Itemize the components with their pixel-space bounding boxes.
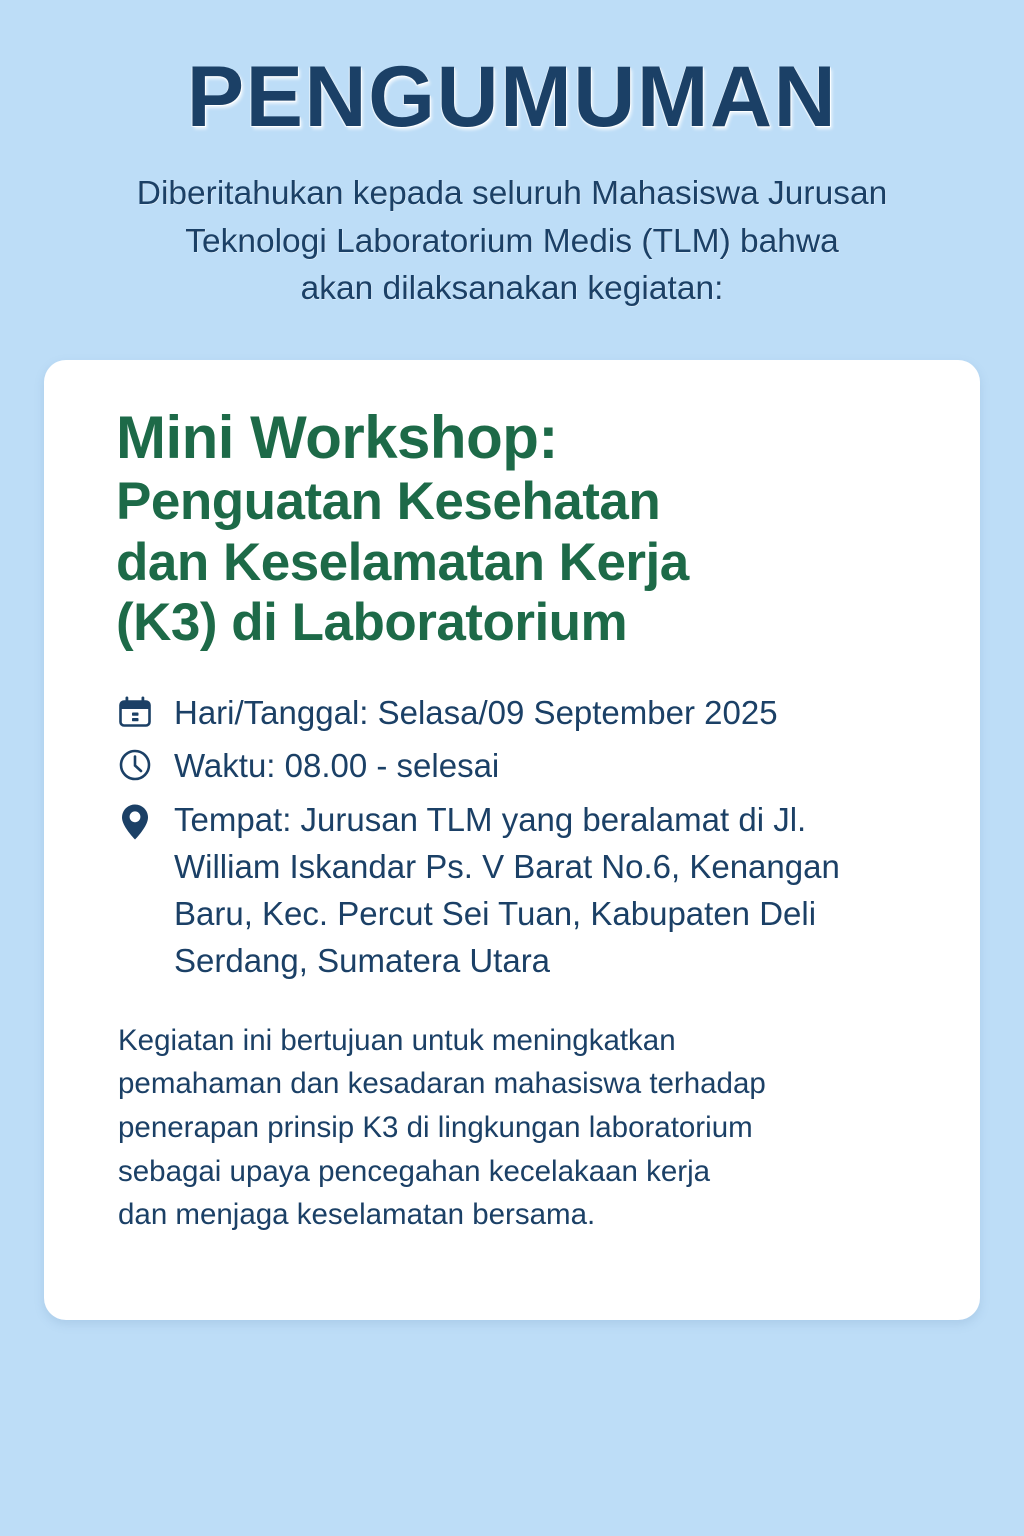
purpose-line: penerapan prinsip K3 di lingkungan labor… — [118, 1106, 908, 1150]
detail-row-place: Tempat: Jurusan TLM yang beralamat di Jl… — [116, 797, 928, 984]
details-card: Mini Workshop: Penguatan Kesehatan dan K… — [44, 360, 980, 1320]
purpose-line: pemahaman dan kesadaran mahasiswa terhad… — [118, 1062, 908, 1106]
purpose-line: dan menjaga keselamatan bersama. — [118, 1193, 908, 1237]
purpose-line: sebagai upaya pencegahan kecelakaan kerj… — [118, 1150, 908, 1194]
detail-row-time: Waktu: 08.00 - selesai — [116, 743, 928, 790]
workshop-heading: Mini Workshop: Penguatan Kesehatan dan K… — [116, 404, 928, 654]
purpose-line: Kegiatan ini bertujuan untuk meningkatka… — [118, 1019, 908, 1063]
calendar-icon — [116, 691, 154, 733]
poster-header: PENGUMUMAN Diberitahukan kepada seluruh … — [0, 0, 1024, 313]
detail-row-date: Hari/Tanggal: Selasa/09 September 2025 — [116, 690, 928, 737]
workshop-heading-line-1: Mini Workshop: — [116, 404, 928, 472]
clock-icon — [116, 744, 154, 786]
detail-text-place: Tempat: Jurusan TLM yang beralamat di Jl… — [174, 797, 894, 984]
map-pin-icon — [116, 801, 154, 843]
workshop-heading-line-3: dan Keselamatan Kerja — [116, 533, 928, 593]
subtitle-line: Teknologi Laboratorium Medis (TLM) bahwa — [82, 218, 942, 266]
detail-text-time: Waktu: 08.00 - selesai — [174, 743, 499, 790]
announcement-poster: PENGUMUMAN Diberitahukan kepada seluruh … — [0, 0, 1024, 1536]
workshop-heading-line-4: (K3) di Laboratorium — [116, 593, 928, 653]
purpose-paragraph: Kegiatan ini bertujuan untuk meningkatka… — [118, 1019, 908, 1237]
detail-text-date: Hari/Tanggal: Selasa/09 September 2025 — [174, 690, 778, 737]
workshop-heading-line-2: Penguatan Kesehatan — [116, 472, 928, 532]
event-details-list: Hari/Tanggal: Selasa/09 September 2025 W… — [116, 690, 928, 985]
subtitle-line: Diberitahukan kepada seluruh Mahasiswa J… — [82, 170, 942, 218]
subtitle-line: akan dilaksanakan kegiatan: — [82, 265, 942, 313]
page-title: PENGUMUMAN — [187, 52, 837, 142]
poster-subtitle: Diberitahukan kepada seluruh Mahasiswa J… — [82, 170, 942, 313]
